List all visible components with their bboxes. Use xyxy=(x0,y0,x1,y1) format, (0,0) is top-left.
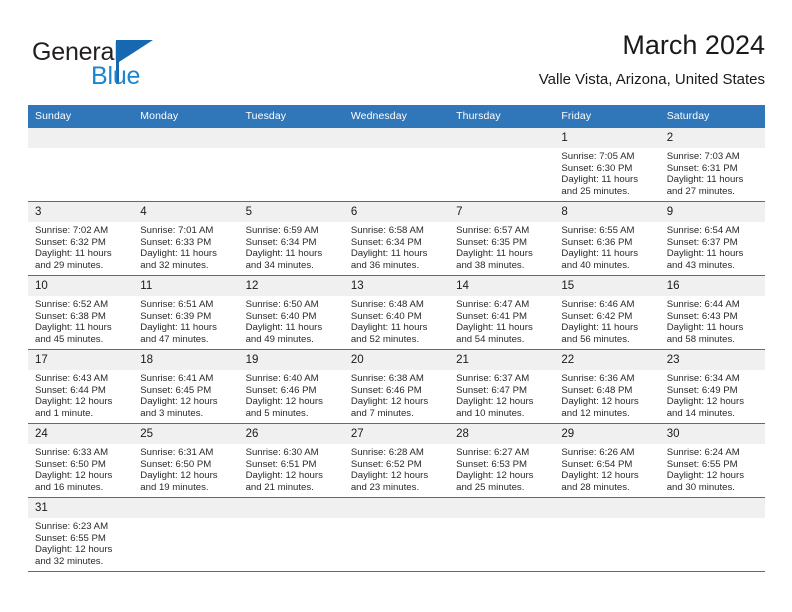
day-number-band: 12 xyxy=(239,276,344,296)
calendar-week-row: 3Sunrise: 7:02 AMSunset: 6:32 PMDaylight… xyxy=(28,202,765,276)
sunset-time: Sunset: 6:45 PM xyxy=(140,385,234,397)
day-number: 30 xyxy=(660,428,680,440)
day-number-band xyxy=(28,128,133,148)
day-number-band: 8 xyxy=(554,202,659,222)
day-sun-info: Sunrise: 6:41 AMSunset: 6:45 PMDaylight:… xyxy=(133,370,238,419)
day-number: 21 xyxy=(449,354,469,366)
daylight-duration-line1: Daylight: 12 hours xyxy=(140,470,234,482)
calendar-day-cell-empty xyxy=(133,128,238,202)
daylight-duration-line1: Daylight: 11 hours xyxy=(140,322,234,334)
sunrise-time: Sunrise: 6:58 AM xyxy=(351,225,445,237)
day-number-band: 25 xyxy=(133,424,238,444)
daylight-duration-line1: Daylight: 12 hours xyxy=(561,470,655,482)
calendar-day-cell[interactable]: 1Sunrise: 7:05 AMSunset: 6:30 PMDaylight… xyxy=(554,128,659,202)
daylight-duration-line2: and 19 minutes. xyxy=(140,482,234,494)
day-sun-info: Sunrise: 6:54 AMSunset: 6:37 PMDaylight:… xyxy=(660,222,765,271)
day-number: 6 xyxy=(344,206,357,218)
daylight-duration-line1: Daylight: 11 hours xyxy=(351,322,445,334)
weekday-header-thursday: Thursday xyxy=(449,105,554,128)
calendar-day-cell[interactable]: 4Sunrise: 7:01 AMSunset: 6:33 PMDaylight… xyxy=(133,202,238,276)
sunrise-time: Sunrise: 6:41 AM xyxy=(140,373,234,385)
daylight-duration-line1: Daylight: 11 hours xyxy=(561,174,655,186)
daylight-duration-line2: and 12 minutes. xyxy=(561,408,655,420)
calendar-week-row: 1Sunrise: 7:05 AMSunset: 6:30 PMDaylight… xyxy=(28,128,765,202)
day-cell-content: 10Sunrise: 6:52 AMSunset: 6:38 PMDayligh… xyxy=(28,276,133,349)
daylight-duration-line2: and 3 minutes. xyxy=(140,408,234,420)
day-number-band: 11 xyxy=(133,276,238,296)
sunrise-time: Sunrise: 6:24 AM xyxy=(667,447,761,459)
sunset-time: Sunset: 6:46 PM xyxy=(246,385,340,397)
day-number: 17 xyxy=(28,354,48,366)
calendar-day-cell[interactable]: 14Sunrise: 6:47 AMSunset: 6:41 PMDayligh… xyxy=(449,276,554,350)
day-number-band: 22 xyxy=(554,350,659,370)
daylight-duration-line2: and 28 minutes. xyxy=(561,482,655,494)
day-number-band: 3 xyxy=(28,202,133,222)
calendar-header-row-group: Sunday Monday Tuesday Wednesday Thursday… xyxy=(28,105,765,128)
day-sun-info: Sunrise: 6:46 AMSunset: 6:42 PMDaylight:… xyxy=(554,296,659,345)
day-cell-content xyxy=(239,128,344,201)
calendar-day-cell[interactable]: 17Sunrise: 6:43 AMSunset: 6:44 PMDayligh… xyxy=(28,350,133,424)
sunrise-time: Sunrise: 6:36 AM xyxy=(561,373,655,385)
day-number-band: 13 xyxy=(344,276,449,296)
daylight-duration-line1: Daylight: 11 hours xyxy=(667,322,761,334)
page-subtitle-location: Valle Vista, Arizona, United States xyxy=(539,68,765,92)
sunrise-sunset-calendar-table: Sunday Monday Tuesday Wednesday Thursday… xyxy=(28,105,765,572)
day-sun-info: Sunrise: 6:38 AMSunset: 6:46 PMDaylight:… xyxy=(344,370,449,419)
day-number: 18 xyxy=(133,354,153,366)
calendar-day-cell-empty xyxy=(239,498,344,572)
sunrise-time: Sunrise: 6:30 AM xyxy=(246,447,340,459)
calendar-day-cell[interactable]: 12Sunrise: 6:50 AMSunset: 6:40 PMDayligh… xyxy=(239,276,344,350)
day-cell-content: 19Sunrise: 6:40 AMSunset: 6:46 PMDayligh… xyxy=(239,350,344,423)
day-cell-content xyxy=(554,498,659,571)
day-number: 13 xyxy=(344,280,364,292)
day-number: 5 xyxy=(239,206,252,218)
sunset-time: Sunset: 6:49 PM xyxy=(667,385,761,397)
sunset-time: Sunset: 6:40 PM xyxy=(351,311,445,323)
day-sun-info: Sunrise: 6:36 AMSunset: 6:48 PMDaylight:… xyxy=(554,370,659,419)
day-number: 27 xyxy=(344,428,364,440)
day-cell-content: 5Sunrise: 6:59 AMSunset: 6:34 PMDaylight… xyxy=(239,202,344,275)
day-cell-content: 7Sunrise: 6:57 AMSunset: 6:35 PMDaylight… xyxy=(449,202,554,275)
day-sun-info: Sunrise: 6:51 AMSunset: 6:39 PMDaylight:… xyxy=(133,296,238,345)
daylight-duration-line1: Daylight: 12 hours xyxy=(246,470,340,482)
sunrise-time: Sunrise: 7:02 AM xyxy=(35,225,129,237)
weekday-header-saturday: Saturday xyxy=(660,105,765,128)
calendar-day-cell-empty xyxy=(449,128,554,202)
day-number-band: 21 xyxy=(449,350,554,370)
day-sun-info: Sunrise: 6:59 AMSunset: 6:34 PMDaylight:… xyxy=(239,222,344,271)
daylight-duration-line2: and 58 minutes. xyxy=(667,334,761,346)
day-number xyxy=(133,502,140,514)
day-number: 2 xyxy=(660,132,673,144)
day-number-band xyxy=(660,498,765,518)
day-number-band xyxy=(449,498,554,518)
sunrise-time: Sunrise: 6:33 AM xyxy=(35,447,129,459)
calendar-day-cell-empty xyxy=(344,128,449,202)
daylight-duration-line1: Daylight: 12 hours xyxy=(667,470,761,482)
day-cell-content: 28Sunrise: 6:27 AMSunset: 6:53 PMDayligh… xyxy=(449,424,554,497)
sunrise-time: Sunrise: 6:38 AM xyxy=(351,373,445,385)
day-number-band: 30 xyxy=(660,424,765,444)
calendar-day-cell[interactable]: 3Sunrise: 7:02 AMSunset: 6:32 PMDaylight… xyxy=(28,202,133,276)
sunset-time: Sunset: 6:38 PM xyxy=(35,311,129,323)
day-number: 9 xyxy=(660,206,673,218)
daylight-duration-line2: and 43 minutes. xyxy=(667,260,761,272)
day-cell-content: 16Sunrise: 6:44 AMSunset: 6:43 PMDayligh… xyxy=(660,276,765,349)
page-title: March 2024 xyxy=(539,28,765,62)
sunrise-time: Sunrise: 6:23 AM xyxy=(35,521,129,533)
sunset-time: Sunset: 6:51 PM xyxy=(246,459,340,471)
sunrise-time: Sunrise: 6:26 AM xyxy=(561,447,655,459)
weekday-header-sunday: Sunday xyxy=(28,105,133,128)
day-number-band: 27 xyxy=(344,424,449,444)
day-cell-content: 25Sunrise: 6:31 AMSunset: 6:50 PMDayligh… xyxy=(133,424,238,497)
day-cell-content: 20Sunrise: 6:38 AMSunset: 6:46 PMDayligh… xyxy=(344,350,449,423)
day-number: 7 xyxy=(449,206,462,218)
day-sun-info: Sunrise: 6:37 AMSunset: 6:47 PMDaylight:… xyxy=(449,370,554,419)
day-number-band: 9 xyxy=(660,202,765,222)
calendar-day-cell-empty xyxy=(239,128,344,202)
day-number-band: 15 xyxy=(554,276,659,296)
day-sun-info: Sunrise: 6:55 AMSunset: 6:36 PMDaylight:… xyxy=(554,222,659,271)
calendar-day-cell-empty xyxy=(660,498,765,572)
sunrise-time: Sunrise: 6:51 AM xyxy=(140,299,234,311)
calendar-day-cell-empty xyxy=(28,128,133,202)
day-number-band: 16 xyxy=(660,276,765,296)
day-number-band xyxy=(239,128,344,148)
sunrise-time: Sunrise: 6:55 AM xyxy=(561,225,655,237)
daylight-duration-line2: and 29 minutes. xyxy=(35,260,129,272)
day-cell-content xyxy=(28,128,133,201)
day-cell-content: 9Sunrise: 6:54 AMSunset: 6:37 PMDaylight… xyxy=(660,202,765,275)
day-number-band: 19 xyxy=(239,350,344,370)
day-cell-content: 12Sunrise: 6:50 AMSunset: 6:40 PMDayligh… xyxy=(239,276,344,349)
day-sun-info: Sunrise: 7:05 AMSunset: 6:30 PMDaylight:… xyxy=(554,148,659,197)
calendar-day-cell[interactable]: 8Sunrise: 6:55 AMSunset: 6:36 PMDaylight… xyxy=(554,202,659,276)
day-number-band xyxy=(554,498,659,518)
day-cell-content: 6Sunrise: 6:58 AMSunset: 6:34 PMDaylight… xyxy=(344,202,449,275)
calendar-day-cell[interactable]: 31Sunrise: 6:23 AMSunset: 6:55 PMDayligh… xyxy=(28,498,133,572)
calendar-day-cell[interactable]: 5Sunrise: 6:59 AMSunset: 6:34 PMDaylight… xyxy=(239,202,344,276)
weekday-header-friday: Friday xyxy=(554,105,659,128)
sunset-time: Sunset: 6:50 PM xyxy=(35,459,129,471)
day-sun-info: Sunrise: 6:50 AMSunset: 6:40 PMDaylight:… xyxy=(239,296,344,345)
day-number-band: 17 xyxy=(28,350,133,370)
day-number-band xyxy=(239,498,344,518)
day-cell-content xyxy=(344,128,449,201)
daylight-duration-line1: Daylight: 11 hours xyxy=(561,322,655,334)
day-cell-content: 14Sunrise: 6:47 AMSunset: 6:41 PMDayligh… xyxy=(449,276,554,349)
day-number-band xyxy=(133,498,238,518)
calendar-day-cell[interactable]: 23Sunrise: 6:34 AMSunset: 6:49 PMDayligh… xyxy=(660,350,765,424)
daylight-duration-line1: Daylight: 11 hours xyxy=(140,248,234,260)
day-number: 3 xyxy=(28,206,41,218)
blue-triangle-flag-icon xyxy=(119,40,153,62)
daylight-duration-line2: and 23 minutes. xyxy=(351,482,445,494)
daylight-duration-line2: and 16 minutes. xyxy=(35,482,129,494)
day-number: 25 xyxy=(133,428,153,440)
daylight-duration-line1: Daylight: 11 hours xyxy=(667,248,761,260)
calendar-day-cell[interactable]: 30Sunrise: 6:24 AMSunset: 6:55 PMDayligh… xyxy=(660,424,765,498)
day-number: 31 xyxy=(28,502,48,514)
daylight-duration-line2: and 54 minutes. xyxy=(456,334,550,346)
sunset-time: Sunset: 6:40 PM xyxy=(246,311,340,323)
calendar-day-cell[interactable]: 21Sunrise: 6:37 AMSunset: 6:47 PMDayligh… xyxy=(449,350,554,424)
day-cell-content: 13Sunrise: 6:48 AMSunset: 6:40 PMDayligh… xyxy=(344,276,449,349)
daylight-duration-line1: Daylight: 11 hours xyxy=(561,248,655,260)
daylight-duration-line1: Daylight: 12 hours xyxy=(246,396,340,408)
sunrise-time: Sunrise: 7:03 AM xyxy=(667,151,761,163)
day-cell-content: 8Sunrise: 6:55 AMSunset: 6:36 PMDaylight… xyxy=(554,202,659,275)
day-cell-content: 30Sunrise: 6:24 AMSunset: 6:55 PMDayligh… xyxy=(660,424,765,497)
sunrise-time: Sunrise: 6:59 AM xyxy=(246,225,340,237)
daylight-duration-line2: and 49 minutes. xyxy=(246,334,340,346)
calendar-day-cell[interactable]: 25Sunrise: 6:31 AMSunset: 6:50 PMDayligh… xyxy=(133,424,238,498)
day-sun-info: Sunrise: 6:30 AMSunset: 6:51 PMDaylight:… xyxy=(239,444,344,493)
sunset-time: Sunset: 6:35 PM xyxy=(456,237,550,249)
sunrise-time: Sunrise: 6:43 AM xyxy=(35,373,129,385)
daylight-duration-line1: Daylight: 12 hours xyxy=(561,396,655,408)
day-number: 14 xyxy=(449,280,469,292)
day-sun-info: Sunrise: 6:28 AMSunset: 6:52 PMDaylight:… xyxy=(344,444,449,493)
day-number: 4 xyxy=(133,206,146,218)
daylight-duration-line1: Daylight: 12 hours xyxy=(456,396,550,408)
day-number xyxy=(133,132,140,144)
day-number-band: 28 xyxy=(449,424,554,444)
calendar-day-cell-empty xyxy=(344,498,449,572)
daylight-duration-line1: Daylight: 11 hours xyxy=(35,322,129,334)
day-number xyxy=(344,502,351,514)
sunrise-time: Sunrise: 6:40 AM xyxy=(246,373,340,385)
calendar-week-row: 24Sunrise: 6:33 AMSunset: 6:50 PMDayligh… xyxy=(28,424,765,498)
day-sun-info: Sunrise: 6:57 AMSunset: 6:35 PMDaylight:… xyxy=(449,222,554,271)
calendar-day-cell[interactable]: 29Sunrise: 6:26 AMSunset: 6:54 PMDayligh… xyxy=(554,424,659,498)
weekday-header-tuesday: Tuesday xyxy=(239,105,344,128)
daylight-duration-line1: Daylight: 11 hours xyxy=(246,248,340,260)
sunset-time: Sunset: 6:34 PM xyxy=(246,237,340,249)
day-number: 28 xyxy=(449,428,469,440)
sunset-time: Sunset: 6:47 PM xyxy=(456,385,550,397)
sunrise-time: Sunrise: 6:28 AM xyxy=(351,447,445,459)
day-number-band: 10 xyxy=(28,276,133,296)
calendar-body: 1Sunrise: 7:05 AMSunset: 6:30 PMDaylight… xyxy=(28,128,765,572)
day-number-band: 31 xyxy=(28,498,133,518)
day-cell-content: 22Sunrise: 6:36 AMSunset: 6:48 PMDayligh… xyxy=(554,350,659,423)
sunset-time: Sunset: 6:55 PM xyxy=(667,459,761,471)
day-number-band xyxy=(344,498,449,518)
day-sun-info: Sunrise: 6:34 AMSunset: 6:49 PMDaylight:… xyxy=(660,370,765,419)
sunrise-time: Sunrise: 7:05 AM xyxy=(561,151,655,163)
day-sun-info: Sunrise: 6:58 AMSunset: 6:34 PMDaylight:… xyxy=(344,222,449,271)
calendar-day-cell[interactable]: 9Sunrise: 6:54 AMSunset: 6:37 PMDaylight… xyxy=(660,202,765,276)
title-block: March 2024 Valle Vista, Arizona, United … xyxy=(539,28,765,92)
day-number xyxy=(449,132,456,144)
day-sun-info: Sunrise: 7:01 AMSunset: 6:33 PMDaylight:… xyxy=(133,222,238,271)
day-number-band: 4 xyxy=(133,202,238,222)
day-cell-content xyxy=(239,498,344,571)
day-number-band: 26 xyxy=(239,424,344,444)
day-number-band: 7 xyxy=(449,202,554,222)
day-number xyxy=(554,502,561,514)
day-cell-content xyxy=(660,498,765,571)
day-cell-content: 18Sunrise: 6:41 AMSunset: 6:45 PMDayligh… xyxy=(133,350,238,423)
daylight-duration-line2: and 21 minutes. xyxy=(246,482,340,494)
calendar-day-cell[interactable]: 24Sunrise: 6:33 AMSunset: 6:50 PMDayligh… xyxy=(28,424,133,498)
calendar-day-cell[interactable]: 7Sunrise: 6:57 AMSunset: 6:35 PMDaylight… xyxy=(449,202,554,276)
day-cell-content: 11Sunrise: 6:51 AMSunset: 6:39 PMDayligh… xyxy=(133,276,238,349)
day-number-band xyxy=(344,128,449,148)
sunrise-time: Sunrise: 6:47 AM xyxy=(456,299,550,311)
day-number-band: 5 xyxy=(239,202,344,222)
day-number xyxy=(344,132,351,144)
daylight-duration-line1: Daylight: 12 hours xyxy=(35,470,129,482)
sunset-time: Sunset: 6:34 PM xyxy=(351,237,445,249)
day-number: 24 xyxy=(28,428,48,440)
day-number-band: 6 xyxy=(344,202,449,222)
daylight-duration-line2: and 30 minutes. xyxy=(667,482,761,494)
weekday-header-row: Sunday Monday Tuesday Wednesday Thursday… xyxy=(28,105,765,128)
day-sun-info: Sunrise: 6:48 AMSunset: 6:40 PMDaylight:… xyxy=(344,296,449,345)
sunrise-time: Sunrise: 6:57 AM xyxy=(456,225,550,237)
day-number-band: 29 xyxy=(554,424,659,444)
day-number xyxy=(239,502,246,514)
sunset-time: Sunset: 6:36 PM xyxy=(561,237,655,249)
sunset-time: Sunset: 6:43 PM xyxy=(667,311,761,323)
day-number xyxy=(660,502,667,514)
calendar-day-cell[interactable]: 10Sunrise: 6:52 AMSunset: 6:38 PMDayligh… xyxy=(28,276,133,350)
calendar-day-cell[interactable]: 15Sunrise: 6:46 AMSunset: 6:42 PMDayligh… xyxy=(554,276,659,350)
day-sun-info: Sunrise: 6:31 AMSunset: 6:50 PMDaylight:… xyxy=(133,444,238,493)
calendar-page: General Blue March 2024 Valle Vista, Ari… xyxy=(0,0,792,612)
weekday-header-monday: Monday xyxy=(133,105,238,128)
daylight-duration-line2: and 14 minutes. xyxy=(667,408,761,420)
daylight-duration-line2: and 52 minutes. xyxy=(351,334,445,346)
day-number: 10 xyxy=(28,280,48,292)
sunrise-time: Sunrise: 7:01 AM xyxy=(140,225,234,237)
sunset-time: Sunset: 6:52 PM xyxy=(351,459,445,471)
day-sun-info: Sunrise: 6:52 AMSunset: 6:38 PMDaylight:… xyxy=(28,296,133,345)
daylight-duration-line2: and 10 minutes. xyxy=(456,408,550,420)
calendar-day-cell[interactable]: 27Sunrise: 6:28 AMSunset: 6:52 PMDayligh… xyxy=(344,424,449,498)
general-blue-logo[interactable]: General Blue xyxy=(32,38,232,94)
day-sun-info: Sunrise: 6:24 AMSunset: 6:55 PMDaylight:… xyxy=(660,444,765,493)
daylight-duration-line2: and 32 minutes. xyxy=(140,260,234,272)
daylight-duration-line2: and 32 minutes. xyxy=(35,556,129,568)
sunset-time: Sunset: 6:44 PM xyxy=(35,385,129,397)
sunrise-time: Sunrise: 6:44 AM xyxy=(667,299,761,311)
daylight-duration-line2: and 7 minutes. xyxy=(351,408,445,420)
daylight-duration-line2: and 25 minutes. xyxy=(561,186,655,198)
day-sun-info: Sunrise: 6:23 AMSunset: 6:55 PMDaylight:… xyxy=(28,518,133,567)
day-sun-info: Sunrise: 6:40 AMSunset: 6:46 PMDaylight:… xyxy=(239,370,344,419)
sunset-time: Sunset: 6:33 PM xyxy=(140,237,234,249)
day-number: 15 xyxy=(554,280,574,292)
daylight-duration-line1: Daylight: 12 hours xyxy=(351,470,445,482)
day-sun-info: Sunrise: 6:43 AMSunset: 6:44 PMDaylight:… xyxy=(28,370,133,419)
daylight-duration-line1: Daylight: 11 hours xyxy=(246,322,340,334)
daylight-duration-line2: and 38 minutes. xyxy=(456,260,550,272)
calendar-day-cell[interactable]: 19Sunrise: 6:40 AMSunset: 6:46 PMDayligh… xyxy=(239,350,344,424)
daylight-duration-line1: Daylight: 12 hours xyxy=(351,396,445,408)
day-number-band xyxy=(449,128,554,148)
daylight-duration-line2: and 34 minutes. xyxy=(246,260,340,272)
sunrise-time: Sunrise: 6:37 AM xyxy=(456,373,550,385)
day-cell-content: 31Sunrise: 6:23 AMSunset: 6:55 PMDayligh… xyxy=(28,498,133,571)
sunset-time: Sunset: 6:37 PM xyxy=(667,237,761,249)
day-number: 1 xyxy=(554,132,567,144)
day-number: 29 xyxy=(554,428,574,440)
daylight-duration-line2: and 56 minutes. xyxy=(561,334,655,346)
sunset-time: Sunset: 6:42 PM xyxy=(561,311,655,323)
day-sun-info: Sunrise: 6:27 AMSunset: 6:53 PMDaylight:… xyxy=(449,444,554,493)
sunset-time: Sunset: 6:54 PM xyxy=(561,459,655,471)
daylight-duration-line1: Daylight: 11 hours xyxy=(456,248,550,260)
calendar-week-row: 17Sunrise: 6:43 AMSunset: 6:44 PMDayligh… xyxy=(28,350,765,424)
day-number-band: 18 xyxy=(133,350,238,370)
day-cell-content: 23Sunrise: 6:34 AMSunset: 6:49 PMDayligh… xyxy=(660,350,765,423)
calendar-day-cell[interactable]: 20Sunrise: 6:38 AMSunset: 6:46 PMDayligh… xyxy=(344,350,449,424)
day-cell-content xyxy=(344,498,449,571)
daylight-duration-line1: Daylight: 12 hours xyxy=(456,470,550,482)
day-number: 11 xyxy=(133,280,152,292)
calendar-day-cell[interactable]: 6Sunrise: 6:58 AMSunset: 6:34 PMDaylight… xyxy=(344,202,449,276)
day-number: 26 xyxy=(239,428,259,440)
day-cell-content xyxy=(449,128,554,201)
calendar-day-cell[interactable]: 2Sunrise: 7:03 AMSunset: 6:31 PMDaylight… xyxy=(660,128,765,202)
calendar-day-cell[interactable]: 13Sunrise: 6:48 AMSunset: 6:40 PMDayligh… xyxy=(344,276,449,350)
day-cell-content: 24Sunrise: 6:33 AMSunset: 6:50 PMDayligh… xyxy=(28,424,133,497)
calendar-day-cell-empty xyxy=(554,498,659,572)
sunset-time: Sunset: 6:31 PM xyxy=(667,163,761,175)
day-cell-content xyxy=(449,498,554,571)
day-sun-info: Sunrise: 6:47 AMSunset: 6:41 PMDaylight:… xyxy=(449,296,554,345)
calendar-day-cell[interactable]: 26Sunrise: 6:30 AMSunset: 6:51 PMDayligh… xyxy=(239,424,344,498)
calendar-day-cell[interactable]: 22Sunrise: 6:36 AMSunset: 6:48 PMDayligh… xyxy=(554,350,659,424)
sunset-time: Sunset: 6:53 PM xyxy=(456,459,550,471)
day-cell-content: 21Sunrise: 6:37 AMSunset: 6:47 PMDayligh… xyxy=(449,350,554,423)
day-cell-content: 15Sunrise: 6:46 AMSunset: 6:42 PMDayligh… xyxy=(554,276,659,349)
day-cell-content: 3Sunrise: 7:02 AMSunset: 6:32 PMDaylight… xyxy=(28,202,133,275)
daylight-duration-line1: Daylight: 12 hours xyxy=(667,396,761,408)
calendar-day-cell[interactable]: 16Sunrise: 6:44 AMSunset: 6:43 PMDayligh… xyxy=(660,276,765,350)
day-number: 16 xyxy=(660,280,680,292)
day-sun-info: Sunrise: 7:03 AMSunset: 6:31 PMDaylight:… xyxy=(660,148,765,197)
calendar-week-row: 31Sunrise: 6:23 AMSunset: 6:55 PMDayligh… xyxy=(28,498,765,572)
day-cell-content: 1Sunrise: 7:05 AMSunset: 6:30 PMDaylight… xyxy=(554,128,659,201)
calendar-day-cell[interactable]: 18Sunrise: 6:41 AMSunset: 6:45 PMDayligh… xyxy=(133,350,238,424)
day-cell-content: 2Sunrise: 7:03 AMSunset: 6:31 PMDaylight… xyxy=(660,128,765,201)
calendar-day-cell-empty xyxy=(133,498,238,572)
calendar-day-cell[interactable]: 28Sunrise: 6:27 AMSunset: 6:53 PMDayligh… xyxy=(449,424,554,498)
daylight-duration-line2: and 27 minutes. xyxy=(667,186,761,198)
day-cell-content: 17Sunrise: 6:43 AMSunset: 6:44 PMDayligh… xyxy=(28,350,133,423)
calendar-day-cell[interactable]: 11Sunrise: 6:51 AMSunset: 6:39 PMDayligh… xyxy=(133,276,238,350)
sunrise-time: Sunrise: 6:54 AM xyxy=(667,225,761,237)
sunset-time: Sunset: 6:41 PM xyxy=(456,311,550,323)
weekday-header-wednesday: Wednesday xyxy=(344,105,449,128)
day-sun-info: Sunrise: 7:02 AMSunset: 6:32 PMDaylight:… xyxy=(28,222,133,271)
page-header: General Blue March 2024 Valle Vista, Ari… xyxy=(28,28,765,98)
daylight-duration-line2: and 45 minutes. xyxy=(35,334,129,346)
day-cell-content xyxy=(133,498,238,571)
day-number: 8 xyxy=(554,206,567,218)
sunrise-time: Sunrise: 6:31 AM xyxy=(140,447,234,459)
day-number xyxy=(449,502,456,514)
logo-text-blue: Blue xyxy=(91,62,140,90)
daylight-duration-line1: Daylight: 11 hours xyxy=(351,248,445,260)
calendar-day-cell-empty xyxy=(449,498,554,572)
